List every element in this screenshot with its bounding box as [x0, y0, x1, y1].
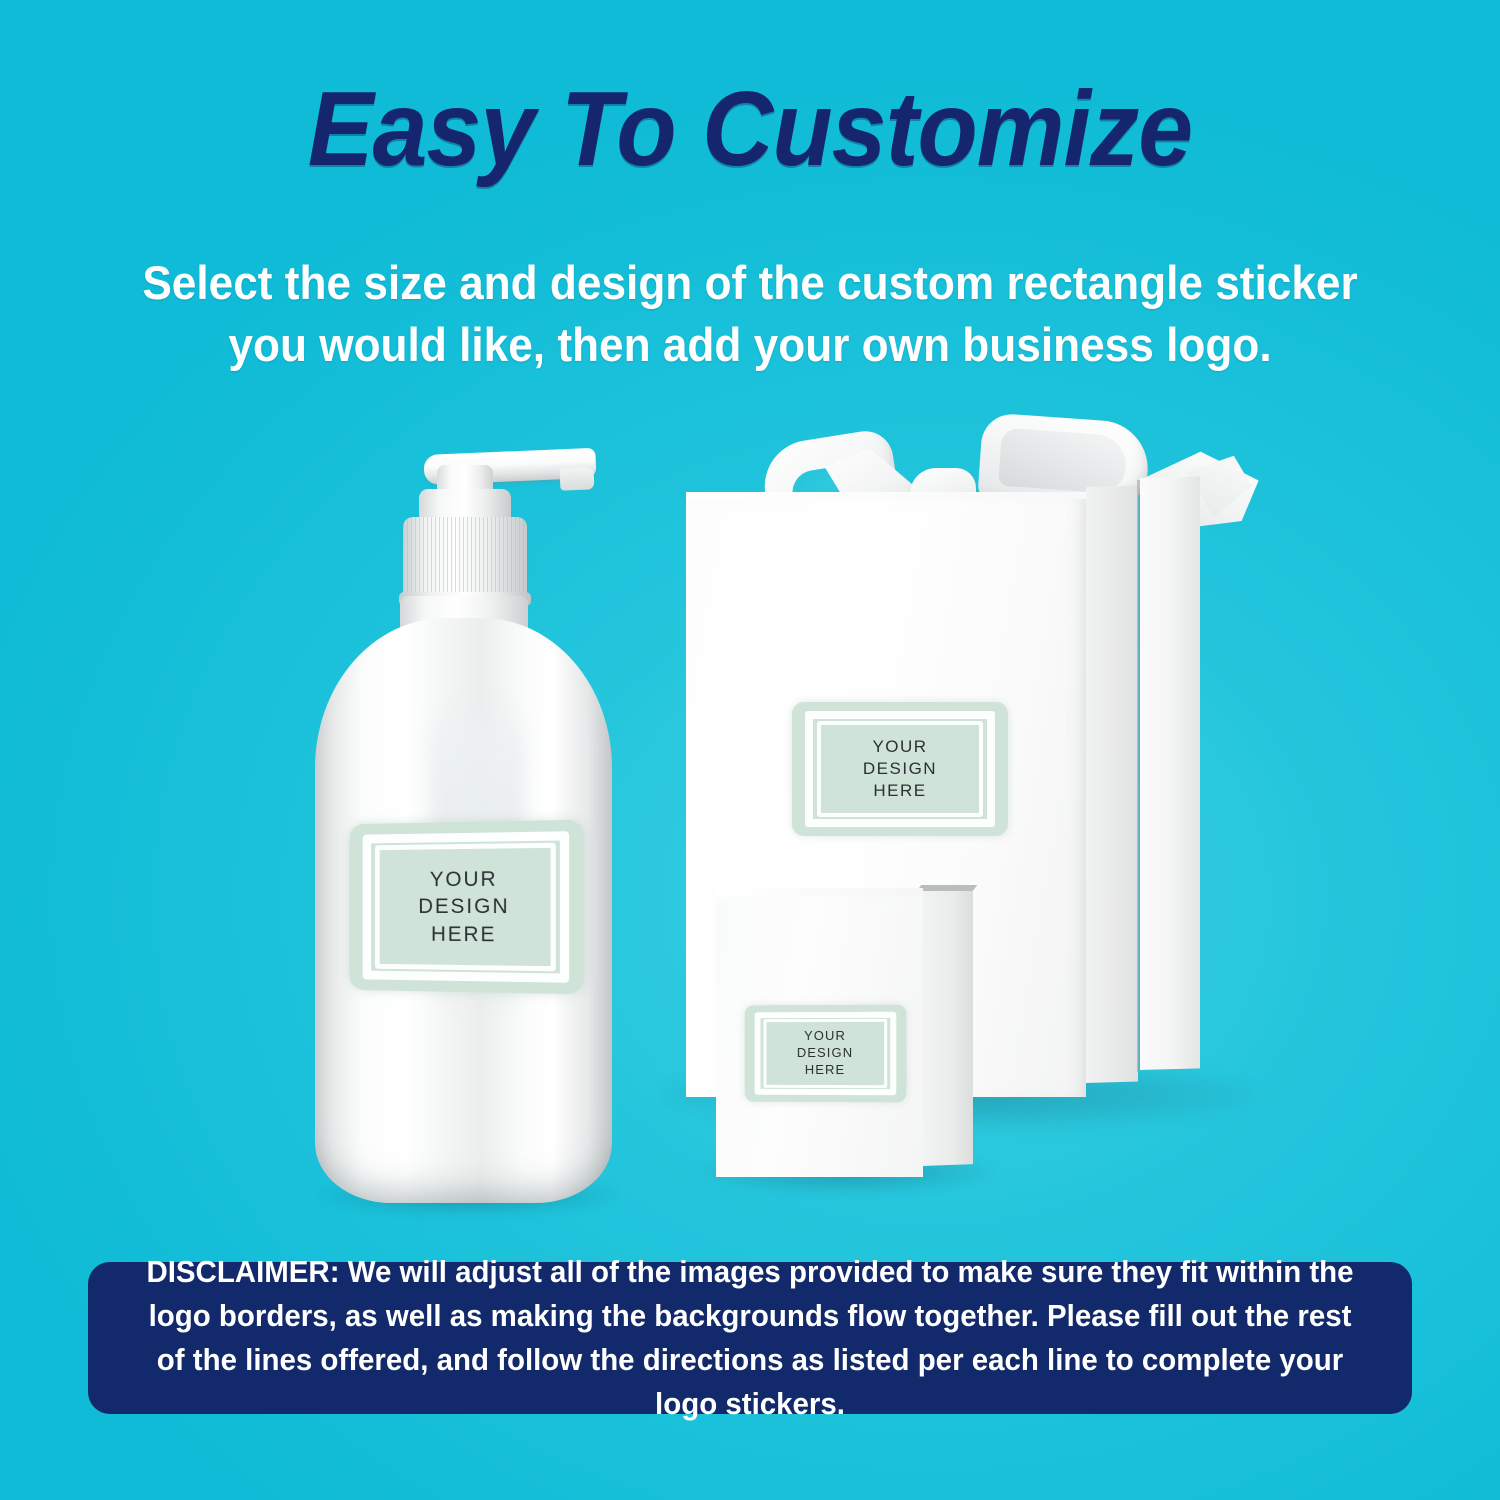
sticker-on-pump-bottle[interactable]: YOUR DESIGN HERE — [349, 820, 583, 995]
gift-box-side-panel-lid — [1086, 486, 1138, 1083]
sticker-on-small-box[interactable]: YOUR DESIGN HERE — [745, 1005, 907, 1103]
subtitle-line-1: Select the size and design of the custom… — [130, 252, 1371, 314]
page-subtitle: Select the size and design of the custom… — [130, 252, 1371, 376]
sticker-design-text: YOUR DESIGN HERE — [418, 866, 509, 949]
sticker-on-gift-box[interactable]: YOUR DESIGN HERE — [792, 702, 1008, 836]
small-box-top-face — [716, 888, 923, 897]
sticker-design-text: YOUR DESIGN HERE — [797, 1028, 853, 1079]
disclaimer-banner: DISCLAIMER: We will adjust all of the im… — [88, 1262, 1412, 1414]
promo-image-canvas: Easy To Customize Select the size and de… — [0, 0, 1500, 1500]
gift-box-side-seam — [1137, 480, 1140, 1072]
subtitle-line-2: you would like, then add your own busine… — [130, 314, 1371, 376]
small-box-side-face — [923, 886, 973, 1166]
gift-box-side-panel-base — [1140, 476, 1200, 1070]
disclaimer-lead: DISCLAIMER: — [146, 1254, 339, 1289]
page-title: Easy To Customize — [53, 74, 1448, 185]
sticker-design-text: YOUR DESIGN HERE — [863, 736, 937, 802]
small-box-top-bevel — [917, 885, 978, 891]
gift-box-top-edge — [686, 492, 1086, 499]
bow-loop-right-inner — [998, 428, 1128, 495]
pump-spout-tip — [560, 467, 595, 490]
disclaimer-text: DISCLAIMER: We will adjust all of the im… — [146, 1250, 1354, 1426]
